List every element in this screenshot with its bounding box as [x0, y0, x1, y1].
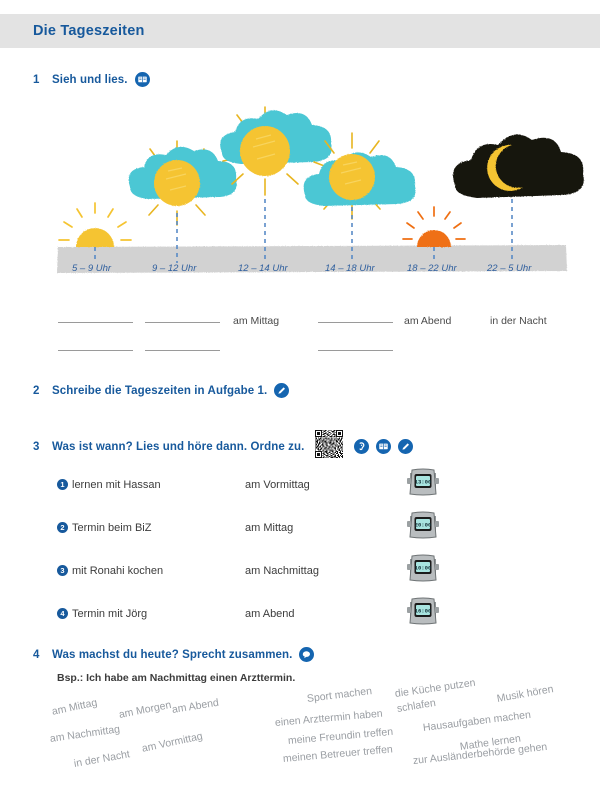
- cloud-word: am Morgen: [118, 699, 172, 721]
- page-header: Die Tageszeiten: [0, 14, 600, 48]
- cloud-word: am Mittag: [51, 697, 99, 718]
- watch-3: 10:00: [405, 553, 441, 588]
- task-4-text: Was machst du heute? Sprecht zusammen.: [52, 649, 292, 661]
- cloud-word: am Vormittag: [141, 730, 204, 755]
- answer-blank-4[interactable]: [58, 350, 133, 351]
- daypart-1: am Vormittag: [245, 479, 310, 491]
- answer-blank-1[interactable]: [58, 322, 133, 323]
- table-row[interactable]: 2 Termin beim BiZ am Mittag 20:00: [0, 506, 600, 549]
- activity-2: Termin beim BiZ: [72, 522, 151, 534]
- daypart-3: am Nachmittag: [245, 565, 319, 577]
- list-bullet-1: 1: [57, 479, 68, 490]
- task-1-number: 1: [33, 74, 45, 86]
- task-1-text: Sieh und lies.: [52, 74, 128, 86]
- book-icon: [376, 439, 391, 454]
- answer-blank-5[interactable]: [145, 350, 220, 351]
- answer-lines-block: am Mittag am Abend in der Nacht: [0, 300, 600, 360]
- task-3-matching-list: 1 lernen mit Hassan am Vormittag 13:00 2…: [0, 463, 600, 635]
- task-3-text: Was ist wann? Lies und höre dann. Ordne …: [52, 441, 304, 453]
- table-row[interactable]: 3 mit Ronahi kochen am Nachmittag 10:00: [0, 549, 600, 592]
- table-row[interactable]: 1 lernen mit Hassan am Vormittag 13:00: [0, 463, 600, 506]
- cloud-word: schlafen: [396, 697, 437, 715]
- activity-4: Termin mit Jörg: [72, 608, 147, 620]
- daypart-4: am Abend: [245, 608, 295, 620]
- speech-bubble-icon: [299, 647, 314, 662]
- time-label-night: 22 – 5 Uhr: [487, 263, 531, 274]
- watch-time-1: 13:00: [415, 479, 432, 486]
- cloud-word: am Nachmittag: [49, 723, 121, 745]
- answer-label-nacht: in der Nacht: [490, 315, 547, 327]
- cloud-word: meinen Betreuer treffen: [282, 743, 393, 765]
- tageszeiten-illustration: 5 – 9 Uhr 9 – 12 Uhr 12 – 14 Uhr 14 – 18…: [0, 95, 600, 290]
- list-bullet-4: 4: [57, 608, 68, 619]
- answer-blank-6[interactable]: [318, 350, 393, 351]
- pencil-icon: [274, 383, 289, 398]
- table-row[interactable]: 4 Termin mit Jörg am Abend 16:00: [0, 592, 600, 635]
- example-sentence: Bsp.: Ich habe am Nachmittag einen Arztt…: [57, 672, 295, 684]
- cloud-word: Hausaufgaben machen: [422, 709, 531, 734]
- book-icon: [135, 72, 150, 87]
- pencil-icon: [398, 439, 413, 454]
- answer-blank-3[interactable]: [318, 322, 393, 323]
- task-1-heading: 1 Sieh und lies.: [33, 72, 150, 87]
- time-label-noon: 12 – 14 Uhr: [238, 263, 288, 274]
- task-3-number: 3: [33, 441, 45, 453]
- answer-label-mittag: am Mittag: [233, 315, 279, 327]
- cloud-word: die Küche putzen: [394, 677, 476, 700]
- time-label-evening: 18 – 22 Uhr: [407, 263, 457, 274]
- activity-3: mit Ronahi kochen: [72, 565, 163, 577]
- cloud-word: in der Nacht: [73, 748, 131, 770]
- qr-code[interactable]: [315, 430, 343, 463]
- watch-time-2: 20:00: [415, 522, 432, 529]
- task-2-number: 2: [33, 385, 45, 397]
- watch-time-4: 16:00: [415, 608, 432, 615]
- activity-1: lernen mit Hassan: [72, 479, 161, 491]
- cloud-word: Sport machen: [306, 685, 372, 705]
- time-label-morning: 9 – 12 Uhr: [152, 263, 196, 274]
- watch-4: 16:00: [405, 596, 441, 631]
- time-label-afternoon: 14 – 18 Uhr: [325, 263, 375, 274]
- cloud-word: am Abend: [171, 697, 220, 716]
- watch-2: 20:00: [405, 510, 441, 545]
- page-title: Die Tageszeiten: [33, 23, 145, 39]
- answer-label-abend: am Abend: [404, 315, 451, 327]
- watch-1: 13:00: [405, 467, 441, 502]
- task-2-heading: 2 Schreibe die Tageszeiten in Aufgabe 1.: [33, 383, 289, 398]
- watch-time-3: 10:00: [415, 565, 432, 572]
- task-4-heading: 4 Was machst du heute? Sprecht zusammen.: [33, 647, 314, 662]
- cloud-word: Musik hören: [496, 683, 554, 705]
- answer-blank-2[interactable]: [145, 322, 220, 323]
- daypart-2: am Mittag: [245, 522, 293, 534]
- task-4-number: 4: [33, 649, 45, 661]
- time-label-sunrise: 5 – 9 Uhr: [72, 263, 111, 274]
- list-bullet-2: 2: [57, 522, 68, 533]
- task-2-text: Schreibe die Tageszeiten in Aufgabe 1.: [52, 385, 267, 397]
- task-3-heading: 3 Was ist wann? Lies und höre dann. Ordn…: [33, 430, 413, 463]
- ear-icon: [354, 439, 369, 454]
- list-bullet-3: 3: [57, 565, 68, 576]
- cloud-word: einen Arzttermin haben: [274, 708, 383, 729]
